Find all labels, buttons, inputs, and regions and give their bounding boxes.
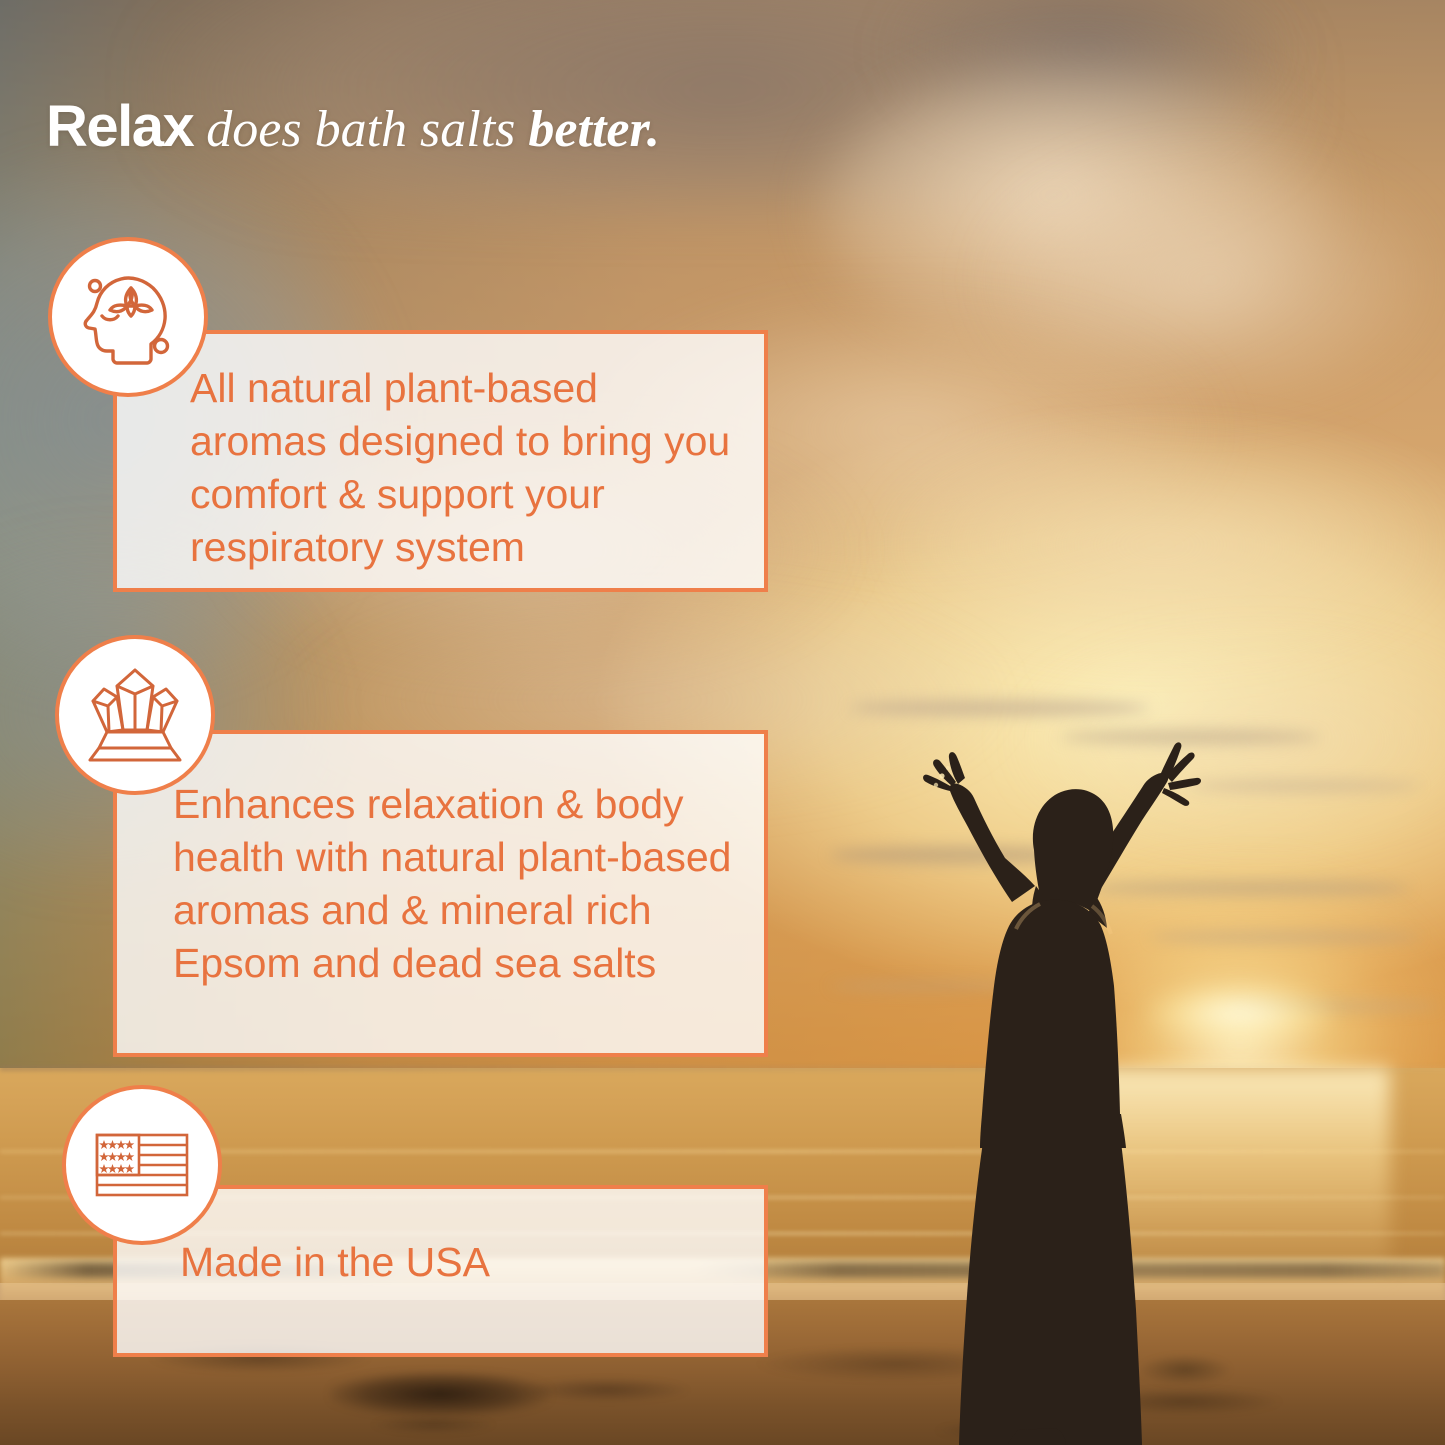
head-lotus-icon [69, 258, 187, 376]
woman-arms-raised-silhouette [830, 690, 1310, 1445]
feature-text-1: All natural plant-based aromas designed … [190, 362, 745, 574]
feature-icon-badge-1 [48, 237, 208, 397]
headline-brand: Relax [46, 94, 193, 159]
mineral-crystals-icon [76, 656, 194, 774]
sand-debris [330, 1372, 550, 1416]
headline-emphasis: better. [528, 101, 659, 158]
feature-icon-badge-3 [62, 1085, 222, 1245]
cloud [880, 430, 1440, 660]
page-title: Relax does bath salts better. [46, 93, 660, 160]
usa-flag-icon [87, 1110, 197, 1220]
product-feature-banner: Relax does bath salts better. All natura… [0, 0, 1445, 1445]
headline-phrase: does bath salts [193, 101, 528, 158]
feature-text-3: Made in the USA [180, 1236, 740, 1289]
feature-text-2: Enhances relaxation & body health with n… [173, 778, 750, 990]
feature-icon-badge-2 [55, 635, 215, 795]
